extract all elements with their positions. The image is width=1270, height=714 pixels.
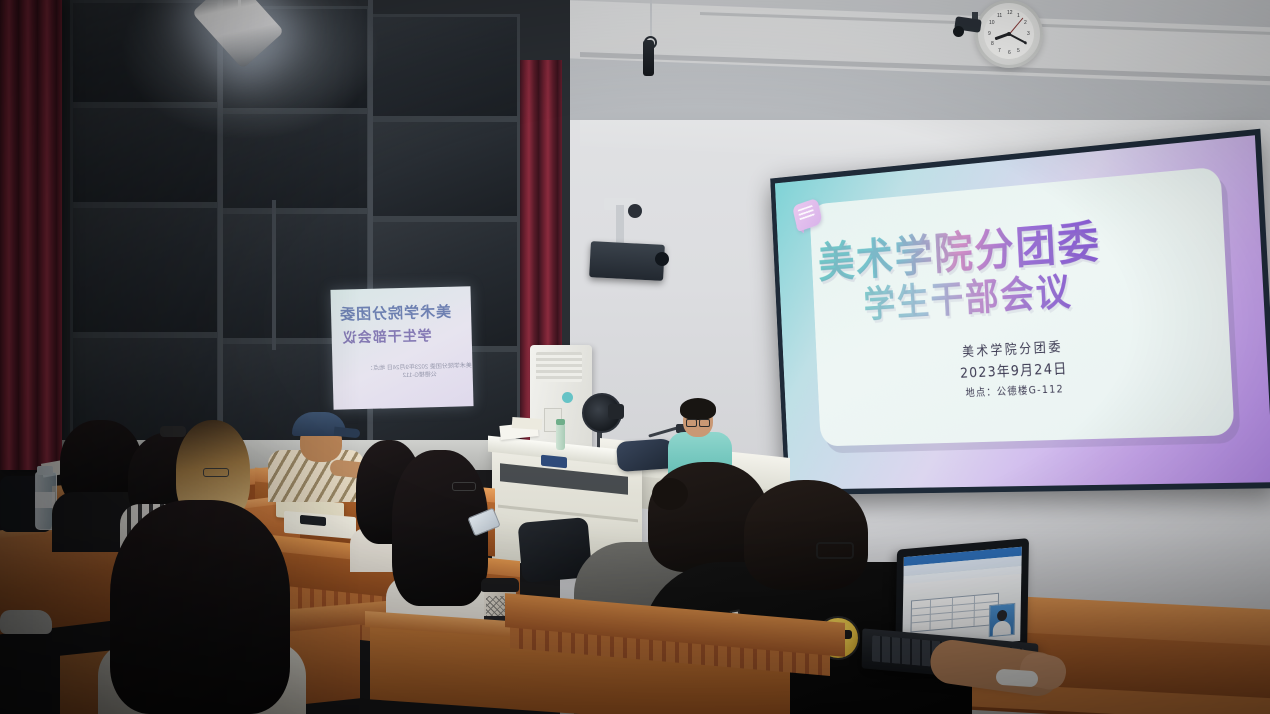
water-bottle-cap: [37, 466, 53, 475]
reflection-title-line1: 美术学院分团委: [339, 301, 452, 325]
projection-screen[interactable]: 美术学院分团委 学生干部会议 美术学院分团委 2023年9月24日 地点：公德楼…: [770, 129, 1270, 495]
laptop-id-photo: [989, 603, 1016, 637]
presenter-hair: [680, 398, 716, 420]
presenter-glasses-left: [686, 419, 697, 427]
id-photo-body: [993, 620, 1011, 636]
laptop-form-table: [911, 593, 1000, 633]
projector-mount-knob: [628, 204, 642, 218]
reflection-subtitle: 美术学院分团委 2023年9月24日 地点：公德楼G-112: [366, 362, 472, 381]
shoe: [0, 610, 52, 634]
ac-grill: [536, 352, 582, 382]
window-pane: [370, 119, 520, 219]
classroom-photo: 美术学院分团委 学生干部会议 美术学院分团委 2023年9月24日 地点：公德楼…: [0, 0, 1270, 714]
wall-clock-icon: 12 1 2 3 4 5 6 7 8 9 10 11: [975, 0, 1043, 68]
small-bottle-cap: [556, 419, 565, 425]
hair-bun: [652, 478, 688, 510]
projector-icon: [589, 241, 665, 281]
reflection-title-line2: 学生干部会议: [341, 325, 431, 347]
glasses-icon: [816, 542, 854, 559]
curtain-left[interactable]: [0, 0, 62, 470]
glasses-icon: [452, 482, 476, 491]
person-black-tee-hair: [744, 480, 868, 590]
hair-clip: [160, 426, 186, 437]
fan-motor: [608, 404, 624, 419]
presentation-slide: 美术学院分团委 学生干部会议 美术学院分团委 2023年9月24日 地点：公德楼…: [775, 135, 1270, 489]
window-latch-bar[interactable]: [272, 200, 276, 350]
clock-center-pin: [1007, 32, 1011, 36]
presenter-glasses-right: [699, 419, 710, 427]
window-pane: [370, 14, 520, 119]
coffee-cup-lid: [481, 578, 519, 592]
ac-badge: [562, 392, 573, 403]
hanging-microphone-icon: [643, 40, 654, 76]
glasses-icon: [203, 468, 229, 477]
water-bottle-label: [35, 492, 55, 508]
window-pane: [70, 205, 220, 335]
projector-arm: [616, 205, 624, 247]
slide-reflection-in-window: 美术学院分团委 学生干部会议 美术学院分团委 2023年9月24日 地点：公德楼…: [330, 286, 473, 410]
small-bottle: [556, 424, 565, 450]
computer-mouse-icon[interactable]: [995, 669, 1038, 688]
papers-on-podium: [512, 417, 543, 430]
camera-lens-icon: [953, 26, 964, 37]
student-long-hair-foreground: [110, 500, 290, 714]
id-photo-head: [997, 610, 1007, 622]
